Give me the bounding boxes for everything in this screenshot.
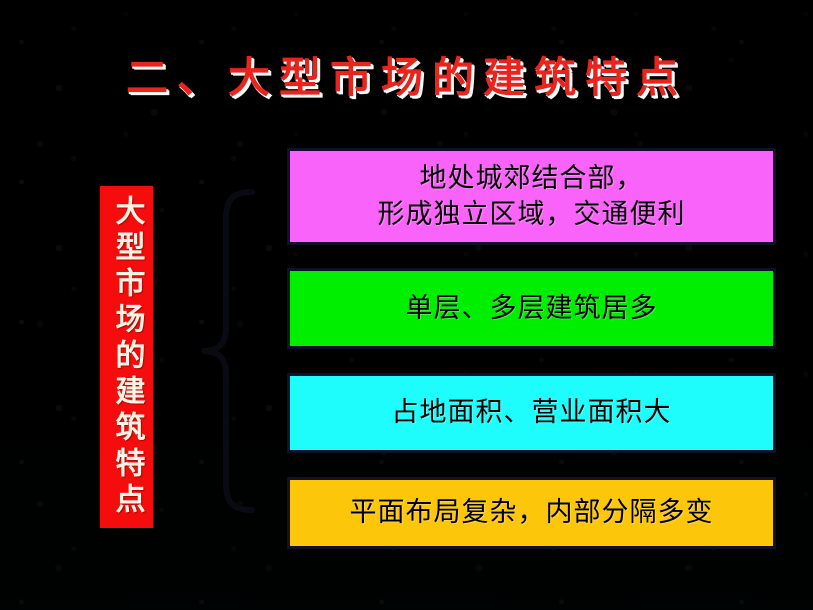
content-box-area: 占地面积、营业面积大 [287,373,776,453]
content-box-lines: 地处城郊结合部， 形成独立区域，交通便利 [290,161,773,232]
content-box-lines: 平面布局复杂，内部分隔多变 [290,495,773,531]
content-line: 形成独立区域，交通便利 [290,197,773,233]
content-line: 单层、多层建筑居多 [290,291,773,327]
content-box-storeys: 单层、多层建筑居多 [287,268,776,349]
content-line: 地处城郊结合部， [290,161,773,197]
content-box-location: 地处城郊结合部， 形成独立区域，交通便利 [287,148,776,245]
slide-title: 二、大型市场的建筑特点 [0,44,813,105]
vertical-red-banner: 大型市场的建筑特点 [100,186,153,528]
presentation-slide: 二、大型市场的建筑特点 大型市场的建筑特点 地处城郊结合部， 形成独立区域，交通… [0,0,813,610]
content-box-lines: 单层、多层建筑居多 [290,291,773,327]
content-box-layout: 平面布局复杂，内部分隔多变 [287,477,776,549]
content-line: 平面布局复杂，内部分隔多变 [290,495,773,531]
content-box-lines: 占地面积、营业面积大 [290,395,773,431]
left-curly-brace-icon [196,186,260,516]
content-line: 占地面积、营业面积大 [290,395,773,431]
vertical-banner-label: 大型市场的建筑特点 [112,195,142,519]
